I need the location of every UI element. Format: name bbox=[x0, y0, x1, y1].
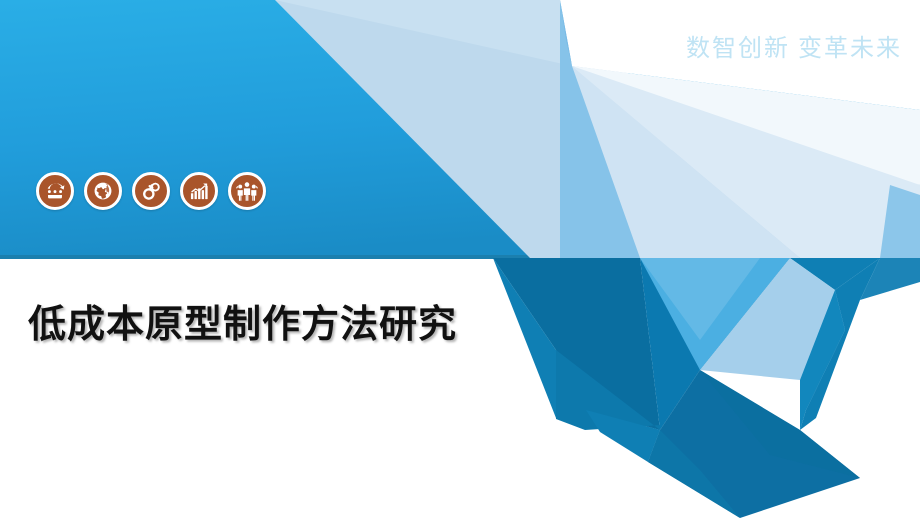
icon-badge-row bbox=[36, 172, 266, 210]
people-group-icon bbox=[228, 172, 266, 210]
page-title: 低成本原型制作方法研究 bbox=[28, 293, 457, 348]
recycle-arrow-icon bbox=[36, 172, 74, 210]
slide-tagline: 数智创新 变革未来 bbox=[686, 28, 902, 63]
gears-icon bbox=[132, 172, 170, 210]
presentation-slide: 数智创新 变革未来 bbox=[0, 0, 920, 518]
globe-icon bbox=[84, 172, 122, 210]
background-artwork bbox=[0, 0, 920, 518]
bar-chart-icon bbox=[180, 172, 218, 210]
